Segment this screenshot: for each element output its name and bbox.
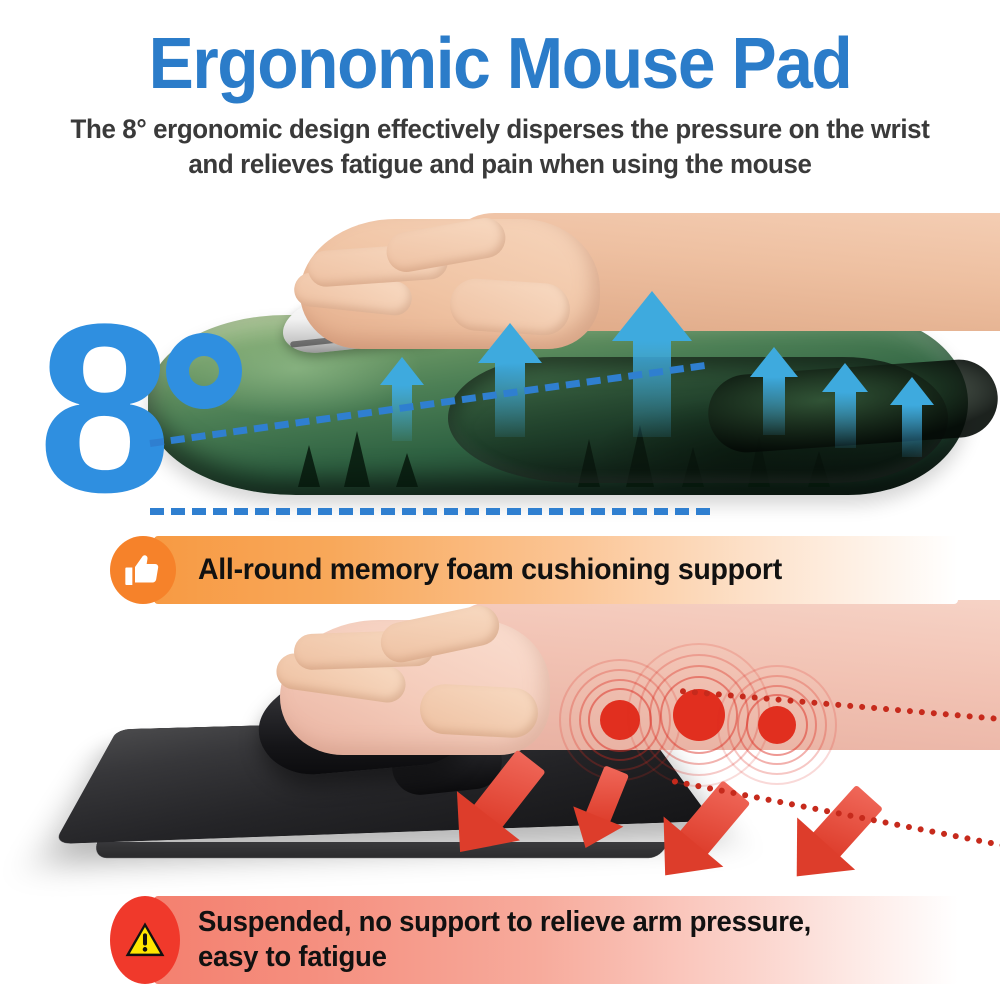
thumb [419,683,539,739]
support-arrow-up [750,347,798,435]
header: Ergonomic Mouse Pad The 8° ergonomic des… [0,0,1000,181]
pain-point [718,666,836,784]
page-title: Ergonomic Mouse Pad [30,0,970,100]
thumbs-up-icon [110,536,176,604]
drawback-banner-con: Suspended, no support to relieve arm pre… [110,896,900,984]
warning-triangle-icon [110,896,180,984]
hand-on-ergonomic-pad [300,219,600,349]
support-arrow-up [612,291,692,437]
angle-baseline [150,508,710,515]
ergonomic-pad-illustration: 8 8° [0,205,1000,535]
support-arrow-up [822,363,868,448]
finger [377,602,503,666]
forest-print-tree [396,453,418,487]
support-arrow-up [478,323,542,437]
angle-value: 8 [38,315,165,502]
forest-print-tree [344,431,370,487]
support-arrow-up [890,377,934,457]
forest-print-tree [298,445,320,487]
benefit-banner-pro: All-round memory foam cushioning support [110,536,900,604]
banner-pro-label: All-round memory foam cushioning support [198,553,782,587]
infographic-page: Ergonomic Mouse Pad The 8° ergonomic des… [0,0,1000,1000]
page-subtitle: The 8° ergonomic design effectively disp… [58,112,941,181]
flat-pad-illustration [0,610,1000,895]
support-arrow-up [380,357,424,441]
banner-con-label: Suspended, no support to relieve arm pre… [198,905,865,975]
degree-symbol-icon [166,333,242,409]
hand-on-flat-pad [280,620,550,755]
